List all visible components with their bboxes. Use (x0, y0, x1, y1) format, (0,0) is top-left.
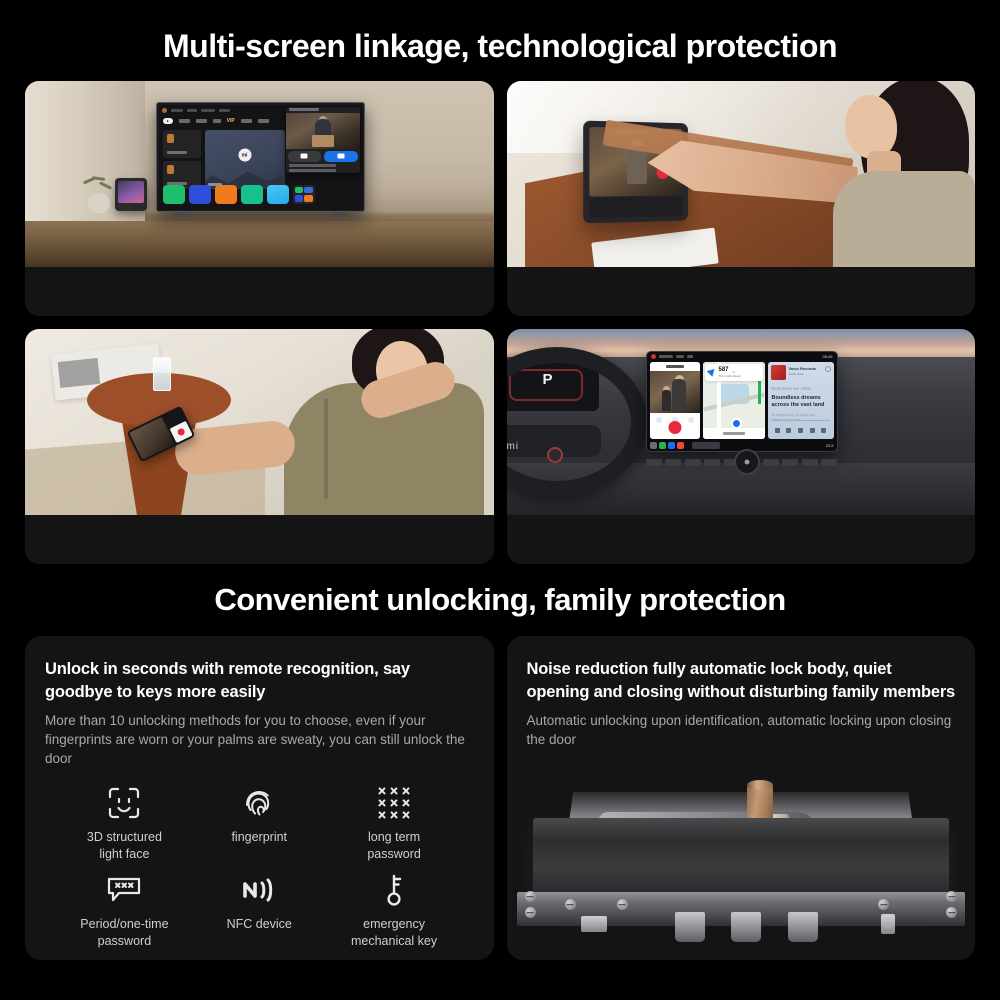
dock-icon-music[interactable] (677, 442, 684, 449)
ignore-button[interactable] (288, 151, 322, 162)
lock-deadbolt (675, 912, 705, 942)
control-knob[interactable] (734, 449, 760, 475)
product-feature-page: Multi-screen linkage, technological prot… (0, 0, 1000, 1000)
panel-doorbell-call[interactable] (650, 362, 700, 439)
status-chip (687, 355, 693, 358)
nfc-icon (238, 869, 280, 911)
brand-badge: mi (507, 441, 520, 452)
vent (821, 459, 837, 466)
photo-card-phone-linkage[interactable] (25, 329, 494, 564)
turn-instruction-card: 587 m Turn right ahead (705, 364, 763, 381)
child-body (662, 390, 671, 411)
unlock-method-mechanical-key[interactable]: emergency mechanical key (329, 869, 460, 950)
faceplate-screw (525, 891, 536, 902)
device-speaker-base (589, 196, 682, 218)
tv-status-chip (171, 109, 183, 112)
faceplate-screw (617, 899, 628, 910)
brand-logo-icon: mi (238, 149, 251, 162)
lock-deadbolt (731, 912, 761, 942)
vent (782, 459, 798, 466)
dock-icon-maps[interactable] (659, 442, 666, 449)
dock-icon-apps[interactable] (650, 442, 657, 449)
feature-card-remote-recognition[interactable]: Unlock in seconds with remote recognitio… (25, 636, 494, 960)
lock-latch-small (581, 916, 607, 932)
unlock-method-label: Period/one-time password (74, 916, 174, 950)
doorbell-options[interactable] (289, 164, 357, 173)
tv-app-icon-orange[interactable] (215, 185, 237, 204)
unlock-method-temporary-password[interactable]: Period/one-time password (59, 869, 190, 950)
vent (802, 459, 818, 466)
woman-figure (825, 81, 975, 267)
end-call-button[interactable] (668, 421, 681, 434)
vent (646, 459, 662, 466)
unlock-method-label: long term password (344, 829, 444, 863)
tv-app-icon-teal[interactable] (241, 185, 263, 204)
photo-card-footer (25, 515, 494, 564)
recording-icon (651, 354, 656, 359)
mute-icon[interactable] (656, 417, 662, 423)
doorbell-popup-title (289, 108, 319, 111)
tv-app-icon-gallery[interactable] (267, 185, 289, 204)
split-screen-panels: 587 m Turn right ahead Voice Records Aud… (650, 362, 834, 439)
smart-display-hub (115, 178, 147, 211)
feature-title: Noise reduction fully automatic lock bod… (527, 658, 956, 704)
feature-description: Automatic unlocking upon identification,… (527, 711, 956, 749)
tv-screen: ● VIP (159, 105, 363, 210)
panel-music-player[interactable]: Voice Records Audio Suite Mountains we c… (768, 362, 834, 439)
photo-smart-display (507, 81, 976, 267)
unlock-method-nfc[interactable]: NFC device (194, 869, 325, 950)
previous-icon[interactable] (786, 428, 791, 433)
tv-app-icon-more[interactable] (293, 185, 315, 204)
photo-card-footer (507, 267, 976, 316)
page-title-convenient-unlocking: Convenient unlocking, family protection (0, 564, 1000, 636)
unlock-method-label: NFC device (227, 916, 292, 933)
clock: 08:45 (822, 354, 832, 359)
faceplate-screw (525, 907, 536, 918)
tv-nav-item-recommended[interactable]: ● (163, 118, 173, 124)
feature-description: More than 10 unlocking methods for you t… (45, 711, 474, 768)
lock-latch-secondary (881, 914, 895, 934)
face (845, 95, 897, 159)
status-chip (676, 355, 684, 358)
tv-sidebar-cell[interactable] (163, 130, 201, 158)
start-button[interactable] (547, 447, 563, 463)
tv-app-icon-blue[interactable] (189, 185, 211, 204)
unlock-method-face[interactable]: 3D structured light face (59, 782, 190, 863)
unlock-method-password[interactable]: long term password (329, 782, 460, 863)
tv-nav-item-sports[interactable] (213, 119, 221, 123)
unlock-method-label: 3D structured light face (74, 829, 174, 863)
tv-nav-item-vip[interactable]: VIP (227, 118, 235, 124)
fingerprint-icon (238, 782, 280, 824)
dock-now-playing[interactable] (692, 442, 720, 449)
tv-nav-item-series[interactable] (241, 119, 252, 123)
tv-console (25, 221, 494, 267)
unlock-methods-grid: 3D structured light face fingerprint (45, 782, 474, 950)
tv-account-icon (162, 108, 167, 113)
photo-phone-linkage (25, 329, 494, 515)
face-id-icon (103, 782, 145, 824)
clothing (833, 171, 975, 267)
photo-grid: ● VIP (0, 81, 1000, 564)
photo-car-linkage: P mi 08:45 (507, 329, 976, 515)
doorbell-video-feed (286, 113, 360, 149)
answer-button[interactable] (324, 151, 358, 162)
woman-figure (254, 329, 484, 515)
tv-nav-item-kids[interactable] (196, 119, 207, 123)
tv-stand (175, 212, 347, 217)
page-title-multi-screen: Multi-screen linkage, technological prot… (0, 0, 1000, 81)
tv-status-chip (201, 109, 215, 112)
screen-status-bar: 08:45 (647, 352, 837, 361)
television: ● VIP (156, 102, 365, 212)
doorbell-option-row[interactable] (289, 164, 337, 167)
status-chip (659, 355, 673, 358)
tv-app-dock[interactable] (163, 185, 360, 207)
panel-navigation[interactable]: 587 m Turn right ahead (703, 362, 765, 439)
keypad-grid (378, 787, 410, 819)
album-art (771, 365, 786, 380)
faceplate-screw (946, 907, 957, 918)
doorbell-actions[interactable] (288, 151, 358, 162)
tv-nav-item-short-video[interactable] (179, 119, 190, 123)
tv-status-chip (187, 109, 197, 112)
turn-street: Turn right ahead (719, 374, 741, 378)
photo-card-tv-linkage[interactable]: ● VIP (25, 81, 494, 316)
unlock-method-fingerprint[interactable]: fingerprint (194, 782, 325, 863)
transport-controls[interactable] (772, 426, 830, 434)
unlock-icon[interactable] (688, 417, 694, 423)
progress-bar[interactable] (772, 420, 830, 422)
doorbell-option-row[interactable] (289, 169, 337, 172)
vent (685, 459, 701, 466)
faceplate-screw (878, 899, 889, 910)
lyric-current: Boundless dreams across the vast land (772, 395, 826, 409)
water-glass (153, 357, 171, 391)
faceplate-screw (565, 899, 576, 910)
tv-status-chip (219, 109, 230, 112)
automatic-lock-body-mechanism (507, 745, 976, 960)
photo-card-smart-display[interactable] (507, 81, 976, 316)
vent (665, 459, 681, 466)
photo-card-footer (507, 515, 976, 564)
doorbell-popup[interactable] (286, 107, 360, 173)
hub-screen (118, 181, 144, 203)
unlock-method-label: emergency mechanical key (344, 916, 444, 950)
feature-card-quiet-lock-body[interactable]: Noise reduction fully automatic lock bod… (507, 636, 976, 960)
mechanical-key-icon (373, 869, 415, 911)
close-icon[interactable] (825, 366, 831, 372)
playlist-icon[interactable] (821, 428, 826, 433)
doorbell-video-feed (650, 371, 700, 416)
call-header (650, 362, 700, 371)
music-subtitle: Audio Suite (789, 372, 804, 376)
call-controls[interactable] (650, 413, 700, 439)
feature-title: Unlock in seconds with remote recognitio… (45, 658, 474, 704)
photo-card-footer (25, 267, 494, 316)
climate-temperature[interactable]: 23.5 (826, 443, 834, 448)
keypad-password-icon (373, 782, 415, 824)
tv-nav-item-movies[interactable] (258, 119, 269, 123)
next-icon[interactable] (810, 428, 815, 433)
turn-right-icon (706, 366, 717, 377)
tv-hero-banner[interactable]: mi (205, 130, 285, 189)
play-pause-icon[interactable] (798, 428, 803, 433)
visitor-body (672, 379, 686, 411)
parcel-box (312, 135, 334, 147)
shuffle-icon[interactable] (775, 428, 780, 433)
vent (704, 459, 720, 466)
infotainment-screen[interactable]: 08:45 (646, 351, 838, 452)
tv-sidebar (163, 130, 201, 192)
vent (763, 459, 779, 466)
feature-grid: Unlock in seconds with remote recognitio… (0, 636, 1000, 960)
navigation-bottom-bar[interactable] (703, 428, 765, 439)
music-artist: Voice Records (789, 366, 817, 371)
message-password-icon (103, 869, 145, 911)
tv-app-icon-green[interactable] (163, 185, 185, 204)
vase-decor (88, 193, 110, 213)
turn-distance: 587 (719, 367, 729, 373)
photo-card-car-linkage[interactable]: P mi 08:45 (507, 329, 976, 564)
lyric-previous: Mountains we climb (772, 386, 812, 391)
screen-dock[interactable]: 23.5 (650, 440, 834, 450)
dock-icon-messages[interactable] (668, 442, 675, 449)
photo-tv-linkage: ● VIP (25, 81, 494, 267)
faceplate-screw (946, 891, 957, 902)
lock-deadbolt (788, 912, 818, 942)
unlock-method-label: fingerprint (231, 829, 287, 846)
